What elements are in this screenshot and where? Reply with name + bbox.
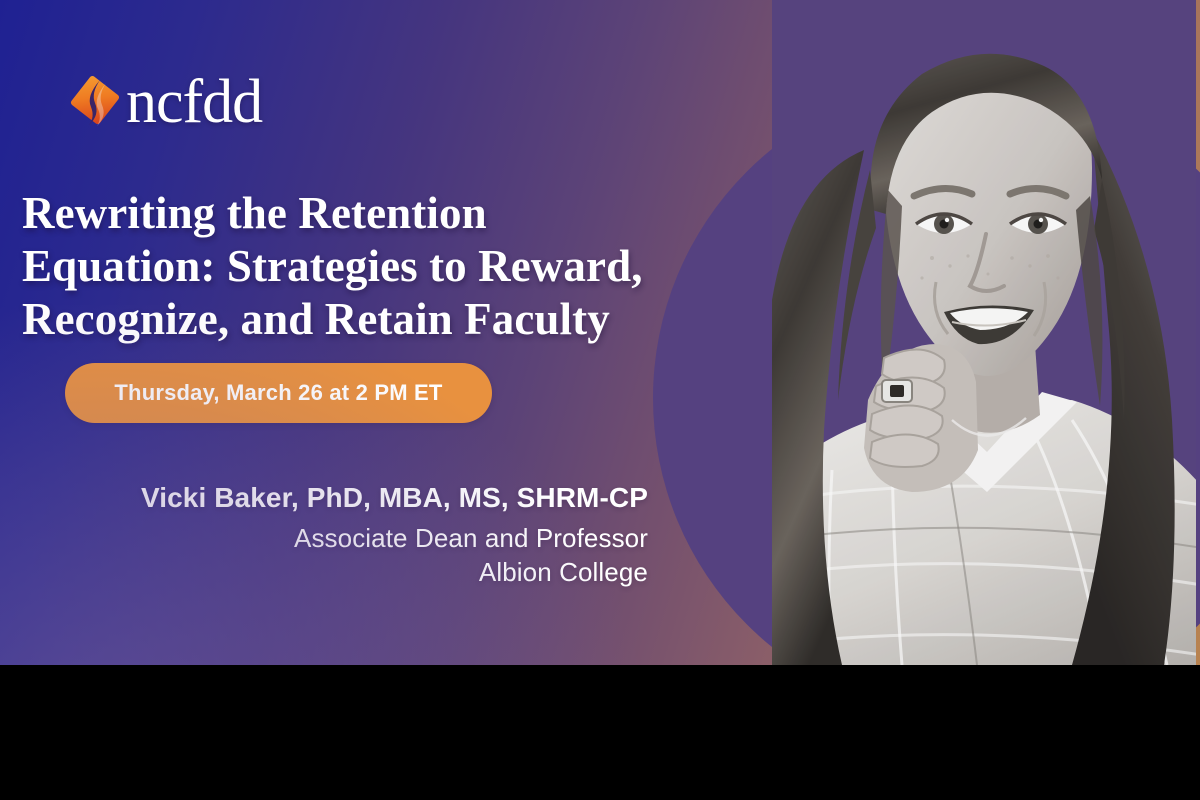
page-title: Rewriting the Retention Equation: Strate… (22, 187, 762, 346)
event-date-badge[interactable]: Thursday, March 26 at 2 PM ET (65, 363, 492, 423)
speaker-portrait-photo (772, 0, 1196, 665)
headline-line-2: Equation: Strategies to Reward, (22, 240, 762, 293)
banner-background: ncfdd Rewriting the Retention Equation: … (0, 0, 1200, 665)
content-column: ncfdd Rewriting the Retention Equation: … (0, 0, 700, 665)
headline-line-1: Rewriting the Retention (22, 187, 762, 240)
webinar-promo-banner: ncfdd Rewriting the Retention Equation: … (0, 0, 1200, 800)
ncfdd-flame-diamond-icon (64, 69, 126, 131)
headline-line-3: Recognize, and Retain Faculty (22, 293, 762, 346)
speaker-name: Vicki Baker, PhD, MBA, MS, SHRM-CP (40, 480, 648, 516)
ncfdd-logo[interactable]: ncfdd (64, 62, 262, 138)
event-date-label: Thursday, March 26 at 2 PM ET (114, 380, 442, 406)
speaker-organization: Albion College (40, 555, 648, 589)
bottom-letterbox (0, 665, 1200, 800)
speaker-info: Vicki Baker, PhD, MBA, MS, SHRM-CP Assoc… (40, 480, 648, 589)
ncfdd-wordmark: ncfdd (126, 71, 262, 133)
speaker-role: Associate Dean and Professor (40, 521, 648, 555)
